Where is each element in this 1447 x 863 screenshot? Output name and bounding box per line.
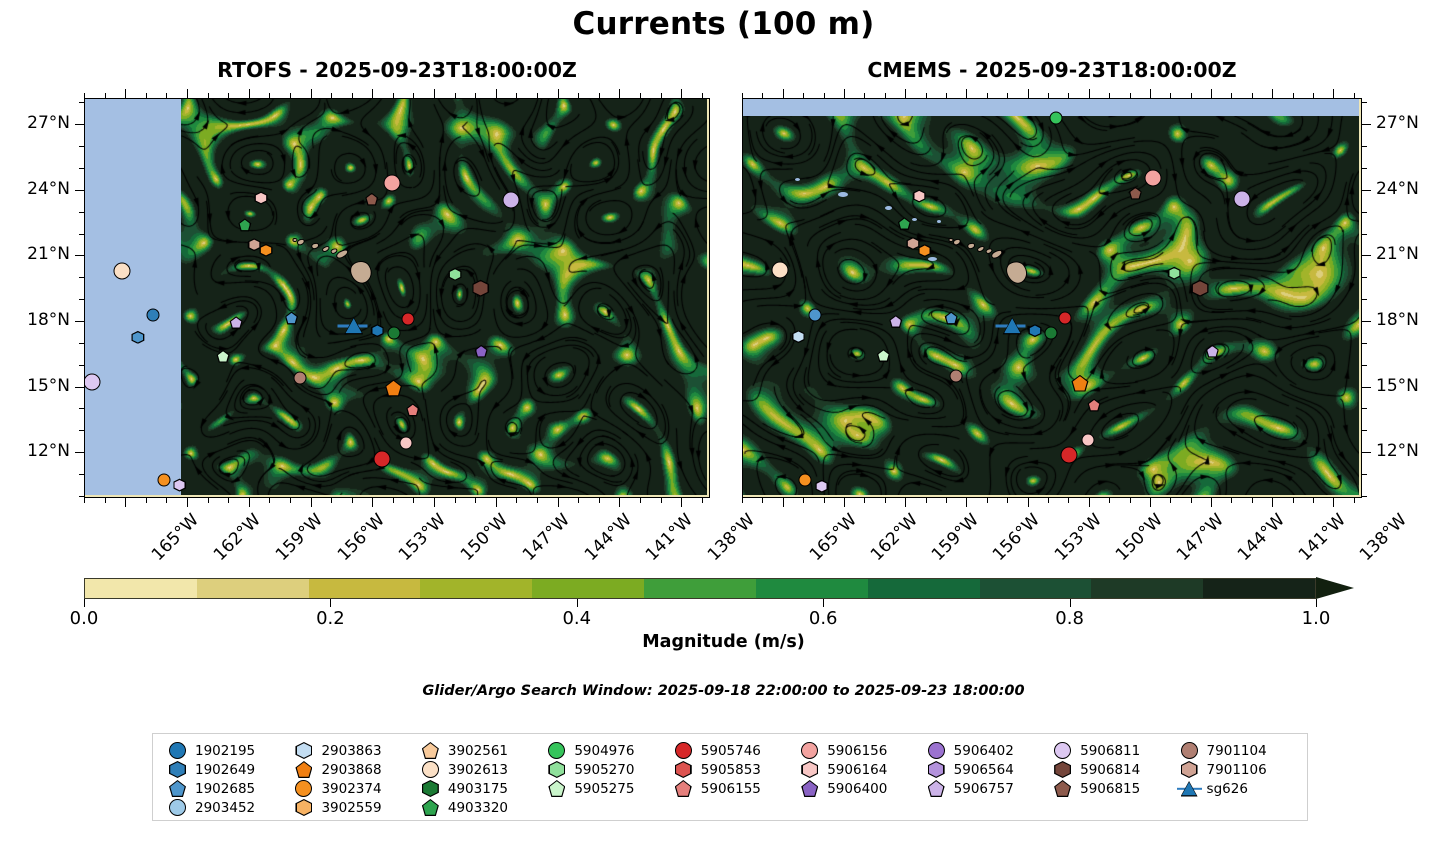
legend-label: 3902561 bbox=[448, 743, 508, 759]
colorbar-tick bbox=[84, 599, 85, 607]
legend-item-1902685[interactable]: 1902685 bbox=[163, 780, 289, 797]
colorbar-band-4 bbox=[532, 579, 644, 598]
colorbar[interactable]: 0.00.20.40.60.81.0 bbox=[84, 578, 1316, 599]
legend-label: 1902685 bbox=[195, 781, 255, 797]
x-tick-major bbox=[619, 498, 620, 507]
map-marker-5906815[interactable] bbox=[1129, 187, 1142, 200]
x-tick-label: 141°W bbox=[1295, 510, 1350, 565]
colorbar-band-3 bbox=[420, 579, 532, 598]
legend-marker-circle-icon bbox=[801, 742, 818, 759]
x-tick-major-top bbox=[1333, 89, 1334, 98]
x-tick-major-top bbox=[1089, 89, 1090, 98]
x-tick-minor bbox=[208, 498, 209, 503]
y-tick-minor bbox=[1362, 277, 1367, 278]
map-marker-sg626[interactable] bbox=[1003, 316, 1022, 335]
colorbar-band-6 bbox=[756, 579, 868, 598]
x-tick-major bbox=[681, 498, 682, 507]
x-tick-minor bbox=[1313, 498, 1314, 503]
map-marker-3902374b[interactable] bbox=[798, 474, 811, 487]
legend-marker-pentagon-icon bbox=[801, 780, 818, 797]
x-tick-minor bbox=[455, 498, 456, 503]
y-tick-minor bbox=[1362, 365, 1367, 366]
legend-item-5906164[interactable]: 5906164 bbox=[795, 761, 921, 778]
legend-marker-pentagon-icon bbox=[1054, 780, 1071, 797]
map-marker-3902374[interactable] bbox=[260, 244, 273, 257]
legend-label: 5906400 bbox=[827, 781, 887, 797]
x-tick-minor bbox=[105, 498, 106, 503]
x-tick-minor bbox=[702, 498, 703, 503]
map-marker-5906811[interactable] bbox=[84, 374, 101, 391]
x-tick-label: 150°W bbox=[1112, 510, 1167, 565]
legend-marker-circle-icon bbox=[548, 742, 565, 759]
x-tick-major bbox=[372, 498, 373, 507]
legend-marker-hexagon-icon bbox=[295, 742, 312, 759]
map-marker-7901104[interactable] bbox=[293, 372, 306, 385]
map-marker-5906814[interactable] bbox=[472, 280, 489, 297]
legend-marker-circle-icon bbox=[675, 742, 692, 759]
x-tick-minor bbox=[824, 498, 825, 503]
colorbar-band-10 bbox=[1203, 579, 1315, 598]
legend-marker-circle-icon bbox=[928, 742, 945, 759]
y-tick-major bbox=[1362, 321, 1371, 322]
legend-marker-hexagon-icon bbox=[675, 761, 692, 778]
colorbar-band-2 bbox=[309, 579, 421, 598]
y-tick-major bbox=[1362, 124, 1371, 125]
map-marker-1902685[interactable] bbox=[792, 330, 805, 343]
map-panel-cmems[interactable] bbox=[742, 98, 1362, 498]
legend-item-7901106[interactable]: 7901106 bbox=[1175, 761, 1301, 778]
x-tick-minor bbox=[537, 498, 538, 503]
x-tick-major bbox=[1028, 498, 1029, 507]
y-tick-label: 27°N bbox=[1376, 113, 1419, 133]
x-tick-major bbox=[311, 498, 312, 507]
legend-item-5906564[interactable]: 5906564 bbox=[922, 761, 1048, 778]
x-tick-minor bbox=[269, 498, 270, 503]
legend-marker-circle-icon bbox=[422, 761, 439, 778]
legend-item-5905275[interactable]: 5905275 bbox=[542, 780, 668, 797]
x-tick-label: 162°W bbox=[867, 510, 922, 565]
legend-label: 5905270 bbox=[574, 762, 634, 778]
legend-label: 5906402 bbox=[954, 743, 1014, 759]
x-tick-major bbox=[1150, 498, 1151, 507]
map-marker-5905275[interactable] bbox=[877, 349, 890, 362]
x-tick-minor bbox=[393, 498, 394, 503]
x-tick-minor bbox=[166, 498, 167, 503]
colorbar-band-9 bbox=[1091, 579, 1203, 598]
x-tick-major-top bbox=[905, 89, 906, 98]
x-tick-minor bbox=[475, 498, 476, 503]
map-marker-5905270[interactable] bbox=[449, 268, 462, 281]
legend-marker-pentagon-icon bbox=[675, 780, 692, 797]
colorbar-band-8 bbox=[980, 579, 1092, 598]
legend-item-2903863[interactable]: 2903863 bbox=[289, 742, 415, 759]
x-tick-minor bbox=[803, 498, 804, 503]
map-marker-4903175[interactable] bbox=[1045, 327, 1058, 340]
y-tick-major bbox=[1362, 387, 1371, 388]
map-marker-4903175[interactable] bbox=[388, 327, 401, 340]
y-tick-major bbox=[75, 321, 84, 322]
x-tick-minor bbox=[1170, 498, 1171, 503]
x-tick-major bbox=[125, 498, 126, 507]
map-marker-1902649[interactable] bbox=[809, 308, 822, 321]
legend-marker-pentagon-icon bbox=[928, 780, 945, 797]
x-tick-label: 165°W bbox=[806, 510, 861, 565]
y-tick-minor bbox=[1362, 408, 1367, 409]
x-tick-minor bbox=[1130, 498, 1131, 503]
legend-label: 1902195 bbox=[195, 743, 255, 759]
x-tick-label: 159°W bbox=[928, 510, 983, 565]
legend-marker-triangle-icon bbox=[1181, 780, 1198, 797]
map-marker-3902374b[interactable] bbox=[157, 473, 170, 486]
x-tick-minor bbox=[352, 498, 353, 503]
legend-marker-circle-icon bbox=[295, 780, 312, 797]
legend-item-2903868[interactable]: 2903868 bbox=[289, 761, 415, 778]
colorbar-ticklabel: 0.6 bbox=[809, 608, 838, 629]
map-marker-1902685b[interactable] bbox=[945, 311, 958, 324]
colorbar-band-7 bbox=[868, 579, 980, 598]
legend-marker-pentagon-icon bbox=[169, 780, 186, 797]
map-marker-5906757[interactable] bbox=[230, 316, 243, 329]
x-tick-minor bbox=[578, 498, 579, 503]
x-tick-major bbox=[187, 498, 188, 507]
legend-label: 3902613 bbox=[448, 762, 508, 778]
x-tick-label: 153°W bbox=[395, 510, 450, 565]
x-tick-major bbox=[558, 498, 559, 507]
x-tick-minor bbox=[1109, 498, 1110, 503]
x-tick-major bbox=[1089, 498, 1090, 507]
y-tick-label: 27°N bbox=[0, 113, 70, 133]
legend-marker-hexagon-icon bbox=[1054, 761, 1071, 778]
legend-label: 3902374 bbox=[321, 781, 381, 797]
x-tick-minor bbox=[516, 498, 517, 503]
legend-item-5906156[interactable]: 5906156 bbox=[795, 742, 921, 759]
x-tick-minor bbox=[1048, 498, 1049, 503]
y-tick-major bbox=[1362, 255, 1371, 256]
map-marker-5906400[interactable] bbox=[1206, 345, 1219, 358]
x-tick-label: 138°W bbox=[1356, 510, 1411, 565]
current-magnitude-field bbox=[181, 99, 707, 495]
x-tick-label: 141°W bbox=[642, 510, 697, 565]
legend-label: 5906164 bbox=[827, 762, 887, 778]
legend-item-5906757[interactable]: 5906757 bbox=[922, 780, 1048, 797]
map-marker-2903868[interactable] bbox=[1071, 375, 1088, 392]
legend-label: 2903868 bbox=[321, 762, 381, 778]
legend-item-1902649[interactable]: 1902649 bbox=[163, 761, 289, 778]
map-marker-3902613[interactable] bbox=[114, 263, 131, 280]
y-tick-major bbox=[1362, 452, 1371, 453]
colorbar-title: Magnitude (m/s) bbox=[0, 632, 1447, 652]
x-tick-label: 156°W bbox=[989, 510, 1044, 565]
colorbar-band-1 bbox=[197, 579, 309, 598]
x-tick-major-top bbox=[311, 89, 312, 98]
legend-marker-hexagon-icon bbox=[928, 761, 945, 778]
x-tick-label: 159°W bbox=[272, 510, 327, 565]
legend-item-3902561[interactable]: 3902561 bbox=[416, 742, 542, 759]
map-marker-4903320[interactable] bbox=[238, 218, 251, 231]
x-tick-minor bbox=[1068, 498, 1069, 503]
legend-item-5904976[interactable]: 5904976 bbox=[542, 742, 668, 759]
y-tick-label: 12°N bbox=[1376, 441, 1419, 461]
legend-item-5905746[interactable]: 5905746 bbox=[669, 742, 795, 759]
legend-marker-pentagon-icon bbox=[422, 742, 439, 759]
legend-item-3902613[interactable]: 3902613 bbox=[416, 761, 542, 778]
y-tick-minor bbox=[1362, 212, 1367, 213]
y-tick-minor bbox=[1362, 234, 1367, 235]
x-tick-label: 165°W bbox=[148, 510, 203, 565]
x-tick-major-top bbox=[1150, 89, 1151, 98]
legend-marker-circle-icon bbox=[1181, 742, 1198, 759]
map-marker-5905270[interactable] bbox=[1168, 267, 1181, 280]
panel-title-cmems: CMEMS - 2025-09-23T18:00:00Z bbox=[742, 58, 1362, 82]
map-marker-1902685[interactable] bbox=[131, 331, 144, 344]
x-tick-label: 144°W bbox=[1234, 510, 1289, 565]
map-marker-5906164b[interactable] bbox=[1081, 433, 1094, 446]
legend-item-4903320[interactable]: 4903320 bbox=[416, 799, 542, 816]
legend-item-4903175[interactable]: 4903175 bbox=[416, 780, 542, 797]
y-tick-label: 12°N bbox=[0, 441, 70, 461]
legend-item-1902195[interactable]: 1902195 bbox=[163, 742, 289, 759]
legend-label: sg626 bbox=[1207, 781, 1248, 797]
x-tick-minor bbox=[413, 498, 414, 503]
legend-label: 5906811 bbox=[1080, 743, 1140, 759]
map-marker-5906402[interactable] bbox=[1233, 190, 1250, 207]
colorbar-ticklabel: 1.0 bbox=[1302, 608, 1331, 629]
legend-label: 5906156 bbox=[827, 743, 887, 759]
x-tick-major-top bbox=[496, 89, 497, 98]
legend-marker-hexagon-icon bbox=[548, 761, 565, 778]
x-tick-major-top bbox=[125, 89, 126, 98]
x-tick-major bbox=[1272, 498, 1273, 507]
x-tick-major-top bbox=[558, 89, 559, 98]
x-tick-major-top bbox=[844, 89, 845, 98]
colorbar-tick bbox=[1316, 599, 1317, 607]
legend-label: 3902559 bbox=[321, 800, 381, 816]
no-data-region bbox=[85, 99, 181, 495]
legend-item-5906815[interactable]: 5906815 bbox=[1048, 780, 1174, 797]
y-tick-minor bbox=[1362, 168, 1367, 169]
x-tick-major-top bbox=[1028, 89, 1029, 98]
legend-item-2903452[interactable]: 2903452 bbox=[163, 799, 289, 816]
map-marker-5905746[interactable] bbox=[1058, 311, 1071, 324]
x-tick-minor bbox=[1293, 498, 1294, 503]
legend-item-5905270[interactable]: 5905270 bbox=[542, 761, 668, 778]
y-tick-minor bbox=[1362, 299, 1367, 300]
x-tick-major-top bbox=[681, 89, 682, 98]
legend-label: 5905275 bbox=[574, 781, 634, 797]
legend-label: 5906155 bbox=[701, 781, 761, 797]
y-tick-label: 24°N bbox=[1376, 179, 1419, 199]
legend-label: 5905853 bbox=[701, 762, 761, 778]
legend-label: 4903320 bbox=[448, 800, 508, 816]
legend-marker-hexagon-icon bbox=[422, 780, 439, 797]
map-marker-5906164[interactable] bbox=[913, 190, 926, 203]
map-panel-rtofs[interactable] bbox=[84, 98, 710, 498]
map-marker-3902374[interactable] bbox=[918, 244, 931, 257]
map-marker-5905275[interactable] bbox=[217, 350, 230, 363]
map-marker-5906156[interactable] bbox=[1144, 170, 1161, 187]
x-tick-label: 156°W bbox=[333, 510, 388, 565]
y-tick-label: 18°N bbox=[0, 310, 70, 330]
legend-label: 5904976 bbox=[574, 743, 634, 759]
legend-item-7901104[interactable]: 7901104 bbox=[1175, 742, 1301, 759]
y-tick-major bbox=[75, 190, 84, 191]
legend-marker-pentagon-icon bbox=[422, 799, 439, 816]
shallow-water-patch bbox=[937, 220, 941, 223]
legend-item-5906400[interactable]: 5906400 bbox=[795, 780, 921, 797]
legend-label: 5906814 bbox=[1080, 762, 1140, 778]
legend-label: 5906564 bbox=[954, 762, 1014, 778]
legend-label: 1902649 bbox=[195, 762, 255, 778]
map-marker-5905746b[interactable] bbox=[374, 450, 391, 467]
legend-marker-circle-icon bbox=[169, 799, 186, 816]
map-marker-5905746[interactable] bbox=[402, 312, 415, 325]
x-tick-minor bbox=[885, 498, 886, 503]
x-tick-minor bbox=[146, 498, 147, 503]
legend-marker-hexagon-icon bbox=[1181, 761, 1198, 778]
map-marker-1902649[interactable] bbox=[147, 308, 160, 321]
map-marker-3902613[interactable] bbox=[771, 262, 788, 279]
x-tick-label: 162°W bbox=[210, 510, 265, 565]
x-tick-minor bbox=[1007, 498, 1008, 503]
legend-marker-pentagon-icon bbox=[548, 780, 565, 797]
x-tick-major bbox=[905, 498, 906, 507]
legend-item-3902559[interactable]: 3902559 bbox=[289, 799, 415, 816]
map-marker-5904976[interactable] bbox=[1049, 111, 1062, 124]
map-marker-1902195[interactable] bbox=[371, 324, 384, 337]
colorbar-ticklabel: 0.8 bbox=[1055, 608, 1084, 629]
x-tick-major-top bbox=[619, 89, 620, 98]
y-tick-major bbox=[75, 255, 84, 256]
panel-title-rtofs: RTOFS - 2025-09-23T18:00:00Z bbox=[84, 58, 710, 82]
current-magnitude-field bbox=[743, 99, 1359, 495]
legend-marker-circle-icon bbox=[1054, 742, 1071, 759]
x-tick-minor bbox=[1231, 498, 1232, 503]
map-marker-5906155[interactable] bbox=[406, 403, 419, 416]
y-tick-major bbox=[1362, 190, 1371, 191]
x-tick-minor bbox=[1354, 498, 1355, 503]
y-tick-label: 15°N bbox=[1376, 376, 1419, 396]
y-tick-label: 24°N bbox=[0, 179, 70, 199]
x-tick-major bbox=[783, 498, 784, 507]
map-marker-5906811b[interactable] bbox=[815, 480, 828, 493]
map-marker-7901104[interactable] bbox=[949, 370, 962, 383]
x-tick-label: 147°W bbox=[1173, 510, 1228, 565]
colorbar-tick bbox=[1070, 599, 1071, 607]
map-marker-5906757[interactable] bbox=[889, 315, 902, 328]
x-tick-minor bbox=[762, 498, 763, 503]
x-tick-minor bbox=[864, 498, 865, 503]
x-tick-major bbox=[434, 498, 435, 507]
map-marker-4903320[interactable] bbox=[898, 217, 911, 230]
x-tick-major bbox=[496, 498, 497, 507]
legend-label: 7901106 bbox=[1207, 762, 1267, 778]
x-tick-minor bbox=[926, 498, 927, 503]
y-tick-major bbox=[75, 124, 84, 125]
map-marker-1902195[interactable] bbox=[1028, 324, 1041, 337]
y-tick-minor bbox=[1362, 146, 1367, 147]
x-tick-minor bbox=[84, 498, 85, 503]
legend-item-5906155[interactable]: 5906155 bbox=[669, 780, 795, 797]
rtofs-data-region bbox=[181, 99, 707, 495]
x-tick-major bbox=[844, 498, 845, 507]
map-marker-5906400[interactable] bbox=[475, 345, 488, 358]
colorbar-ticklabel: 0.2 bbox=[316, 608, 345, 629]
y-tick-minor bbox=[1362, 430, 1367, 431]
x-tick-minor bbox=[331, 498, 332, 503]
legend-marker-hexagon-icon bbox=[801, 761, 818, 778]
x-tick-major bbox=[966, 498, 967, 507]
legend-label: 4903175 bbox=[448, 781, 508, 797]
x-tick-major-top bbox=[372, 89, 373, 98]
map-marker-sg626[interactable] bbox=[344, 316, 363, 335]
x-tick-major-top bbox=[783, 89, 784, 98]
colorbar-gradient bbox=[84, 578, 1316, 599]
x-tick-major-top bbox=[187, 89, 188, 98]
y-tick-major bbox=[75, 452, 84, 453]
map-marker-5906164b[interactable] bbox=[399, 436, 412, 449]
y-tick-minor bbox=[1362, 102, 1367, 103]
y-tick-minor bbox=[1362, 343, 1367, 344]
map-marker-5906402[interactable] bbox=[503, 191, 520, 208]
legend-label: 5906815 bbox=[1080, 781, 1140, 797]
legend-label: 2903863 bbox=[321, 743, 381, 759]
x-tick-minor bbox=[290, 498, 291, 503]
x-tick-major bbox=[1211, 498, 1212, 507]
y-tick-label: 21°N bbox=[0, 244, 70, 264]
legend-item-5906811[interactable]: 5906811 bbox=[1048, 742, 1174, 759]
x-tick-minor bbox=[1191, 498, 1192, 503]
x-tick-minor bbox=[1252, 498, 1253, 503]
legend-label: 7901104 bbox=[1207, 743, 1267, 759]
x-tick-major-top bbox=[249, 89, 250, 98]
map-marker-5905746b[interactable] bbox=[1061, 447, 1078, 464]
x-tick-major-top bbox=[1272, 89, 1273, 98]
x-tick-minor bbox=[599, 498, 600, 503]
map-marker-2903868[interactable] bbox=[385, 380, 402, 397]
x-tick-major bbox=[249, 498, 250, 507]
legend-label: 2903452 bbox=[195, 800, 255, 816]
colorbar-tick bbox=[330, 599, 331, 607]
map-marker-5906814[interactable] bbox=[1192, 280, 1209, 297]
x-tick-label: 144°W bbox=[581, 510, 636, 565]
x-tick-minor bbox=[661, 498, 662, 503]
x-tick-minor bbox=[228, 498, 229, 503]
legend-item-sg626[interactable]: sg626 bbox=[1175, 780, 1301, 797]
map-marker-5906164[interactable] bbox=[255, 192, 268, 205]
x-tick-minor bbox=[946, 498, 947, 503]
figure-suptitle: Currents (100 m) bbox=[0, 6, 1447, 42]
map-marker-5906155[interactable] bbox=[1088, 399, 1101, 412]
legend-item-5906814[interactable]: 5906814 bbox=[1048, 761, 1174, 778]
search-window-note: Glider/Argo Search Window: 2025-09-18 22… bbox=[0, 683, 1447, 699]
y-tick-major bbox=[75, 387, 84, 388]
colorbar-tick bbox=[577, 599, 578, 607]
legend-item-5905853[interactable]: 5905853 bbox=[669, 761, 795, 778]
x-tick-minor bbox=[987, 498, 988, 503]
map-marker-5906815[interactable] bbox=[365, 193, 378, 206]
y-tick-label: 18°N bbox=[1376, 310, 1419, 330]
map-marker-1902685b[interactable] bbox=[285, 311, 298, 324]
legend-marker-hexagon-icon bbox=[295, 799, 312, 816]
legend-marker-hexagon-icon bbox=[169, 761, 186, 778]
legend-item-3902374[interactable]: 3902374 bbox=[289, 780, 415, 797]
map-marker-5906156[interactable] bbox=[383, 174, 400, 191]
legend-marker-circle-icon bbox=[169, 742, 186, 759]
map-marker-5906811b[interactable] bbox=[173, 479, 186, 492]
platform-legend[interactable]: 1902195190264919026852903452290386329038… bbox=[152, 733, 1308, 821]
y-tick-label: 15°N bbox=[0, 376, 70, 396]
legend-item-5906402[interactable]: 5906402 bbox=[922, 742, 1048, 759]
